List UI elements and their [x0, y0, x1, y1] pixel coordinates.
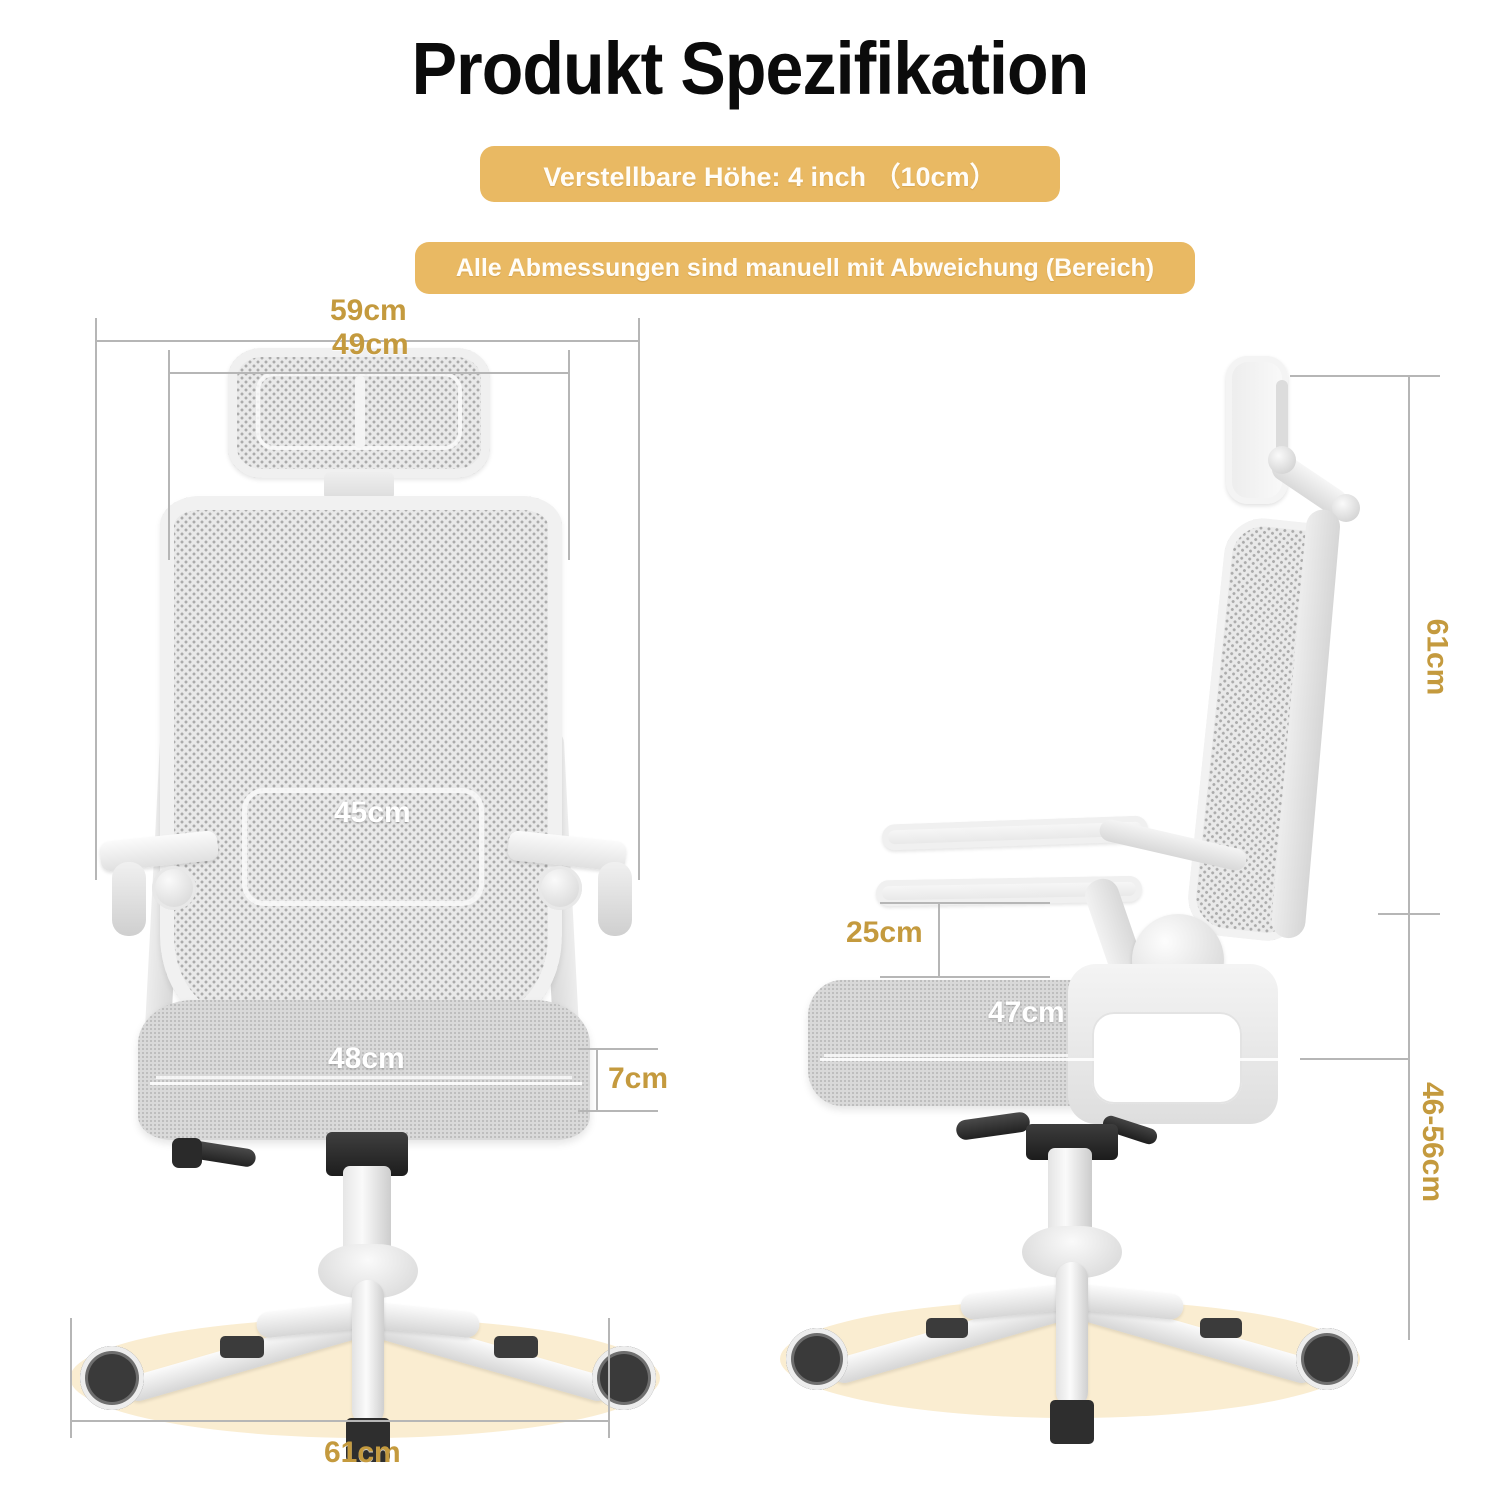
badge-tolerance-note: Alle Abmessungen sind manuell mit Abweic… [415, 242, 1195, 294]
dimension-line-base-diameter [70, 1420, 610, 1422]
dimension-tick-49cm-right [568, 350, 570, 560]
dimension-label-headrest-width: 49cm [332, 328, 409, 362]
dimension-tick-59cm-right [638, 318, 640, 880]
dimension-line-48cm [150, 1082, 582, 1085]
front-view-chair-illustration [60, 300, 700, 1420]
tilt-lever-side [955, 1111, 1031, 1141]
caster-wheel-front-center-side [1050, 1400, 1094, 1444]
caster-wheel-right [592, 1346, 656, 1410]
backrest-mesh [160, 496, 562, 1026]
dimension-tick-25cm-bottom [880, 976, 1050, 978]
base-leg-center-side [1056, 1262, 1088, 1408]
dimension-tick-mid-seat [1378, 913, 1440, 915]
caster-wheel-left [80, 1346, 144, 1410]
headrest-pivot-upper [1268, 446, 1296, 474]
caster-wheel-rear-right-side [1200, 1318, 1242, 1338]
dimension-line-7cm [596, 1048, 598, 1110]
dimension-line-49cm [168, 372, 570, 374]
dimension-tick-49cm-left [168, 350, 170, 560]
headrest-slot [1276, 380, 1288, 454]
dimension-label-seat-width: 48cm [328, 1042, 405, 1076]
dimension-label-armrest-height: 25cm [846, 916, 923, 950]
leader-line-seat-top [1300, 1058, 1408, 1060]
dimension-line-25cm [938, 902, 940, 976]
tilt-lever-knob [172, 1138, 202, 1168]
dimension-label-seat-thickness: 7cm [608, 1062, 668, 1096]
armrest-pivot-left [152, 866, 196, 910]
dimension-tick-59cm-left [95, 318, 97, 880]
dimension-label-seat-depth: 47cm [988, 996, 1065, 1030]
dimension-line-right-vertical [1408, 375, 1410, 1340]
side-view-chair-illustration [780, 340, 1420, 1420]
dimension-label-seat-height: 46-56cm [1415, 1082, 1449, 1202]
caster-wheel-left-side [786, 1328, 848, 1390]
badge-adjustable-height-text: Verstellbare Höhe: 4 inch （10cm） [543, 155, 996, 194]
dimension-tick-7cm-top [578, 1048, 658, 1050]
caster-wheel-rear-left [220, 1336, 264, 1358]
dimension-line-47cm [820, 1058, 1300, 1061]
dimension-label-backrest-width: 45cm [334, 796, 411, 830]
page-title: Produkt Spezifikation [60, 26, 1440, 111]
base-leg-center [352, 1280, 384, 1426]
badge-adjustable-height: Verstellbare Höhe: 4 inch （10cm） [480, 146, 1060, 202]
dimension-label-base-diameter: 61cm [324, 1436, 401, 1470]
dimension-tick-7cm-bottom [578, 1110, 658, 1112]
caster-wheel-rear-left-side [926, 1318, 968, 1338]
dimension-label-backrest-height: 61cm [1419, 619, 1453, 696]
armrest-pivot-right [538, 866, 582, 910]
caster-wheel-right-side [1296, 1328, 1358, 1390]
headrest-center-divider [355, 376, 365, 448]
badge-tolerance-note-text: Alle Abmessungen sind manuell mit Abweic… [456, 254, 1154, 283]
product-specification-page: Produkt Spezifikation Verstellbare Höhe:… [0, 0, 1500, 1500]
seat-seam-line [156, 1076, 572, 1079]
armrest-post-right [598, 862, 632, 936]
leader-line-backrest-top [1290, 375, 1408, 377]
dimension-tick-25cm-top [880, 902, 1050, 904]
armrest-post-left [112, 862, 146, 936]
dimension-label-overall-width: 59cm [330, 294, 407, 328]
caster-wheel-rear-right [494, 1336, 538, 1358]
